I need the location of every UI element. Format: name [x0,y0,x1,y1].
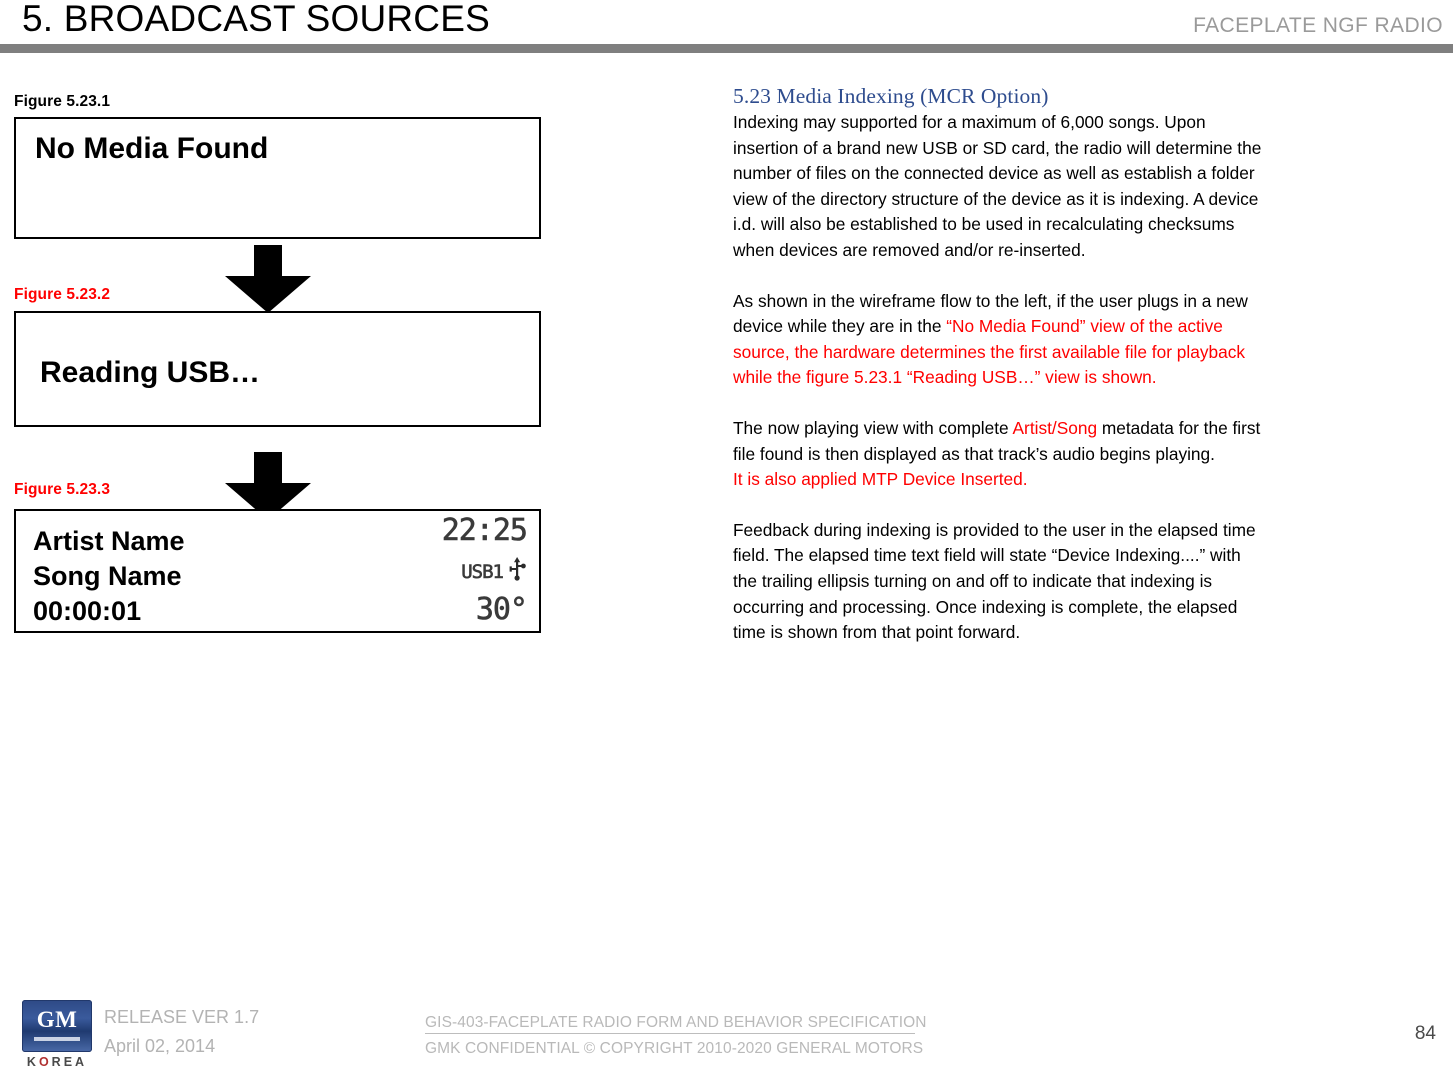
footer-date: April 02, 2014 [104,1036,215,1057]
paragraph-mtp-note: It is also applied MTP Device Inserted. [733,469,1028,489]
paragraph-indexing-overview: Indexing may supported for a maximum of … [733,110,1263,264]
gm-korea-rea: REA [52,1055,87,1069]
section-heading: 5.23 Media Indexing (MCR Option) [733,84,1263,109]
screen-line-reading-usb: Reading USB… [40,356,260,390]
figure-label-1: Figure 5.23.1 [14,93,110,111]
now-playing-artist: Artist Name [33,526,185,557]
page-title: 5. BROADCAST SOURCES [22,0,490,40]
body-copy-column: 5.23 Media Indexing (MCR Option) Indexin… [733,84,1263,646]
gm-korea-o: O [39,1055,52,1069]
status-temperature: 30° [476,592,527,627]
footer-release-version: RELEASE VER 1.7 [104,1007,259,1028]
status-clock: 22:25 [442,513,527,548]
gm-korea-k: K [27,1055,39,1069]
gm-badge-icon: GM [22,1000,92,1052]
radio-screen-no-media: No Media Found [14,117,541,239]
now-playing-song: Song Name [33,561,182,592]
page-number: 84 [1415,1023,1436,1045]
radio-screen-now-playing: Artist Name Song Name 00:00:01 22:25 USB… [14,509,541,633]
gm-badge-label: GM [22,1007,92,1033]
footer-confidential-notice: GMK CONFIDENTIAL © COPYRIGHT 2010-2020 G… [425,1040,923,1058]
footer-divider-rule [425,1033,915,1034]
footer-document-title: GIS-403-FACEPLATE RADIO FORM AND BEHAVIO… [425,1014,927,1032]
paragraph-wireframe-flow: As shown in the wireframe flow to the le… [733,289,1263,391]
radio-screen-reading-usb: Reading USB… [14,311,541,427]
arrow-down-icon [225,245,311,313]
status-source-cluster: USB1 [461,557,527,586]
usb-icon [507,557,527,586]
header-subtitle: FACEPLATE NGF RADIO [1193,14,1443,38]
gm-korea-label: KOREA [22,1055,92,1069]
figure-label-2: Figure 5.23.2 [14,286,110,304]
screen-line-no-media-found: No Media Found [35,132,268,166]
paragraph-now-playing-black: The now playing view with complete [733,418,1013,438]
status-source-label: USB1 [461,561,503,583]
paragraph-now-playing-red-artist-song: Artist/Song [1013,418,1098,438]
paragraph-now-playing: The now playing view with complete Artis… [733,416,1263,493]
now-playing-elapsed-time: 00:00:01 [33,596,141,627]
paragraph-feedback-indexing: Feedback during indexing is provided to … [733,518,1263,646]
page-footer: GM KOREA RELEASE VER 1.7 April 02, 2014 … [0,995,1453,1073]
figure-label-3: Figure 5.23.3 [14,481,110,499]
header-divider-rule [0,44,1453,53]
gm-badge-underline [34,1037,80,1041]
gm-korea-logo: GM KOREA [22,1000,100,1069]
